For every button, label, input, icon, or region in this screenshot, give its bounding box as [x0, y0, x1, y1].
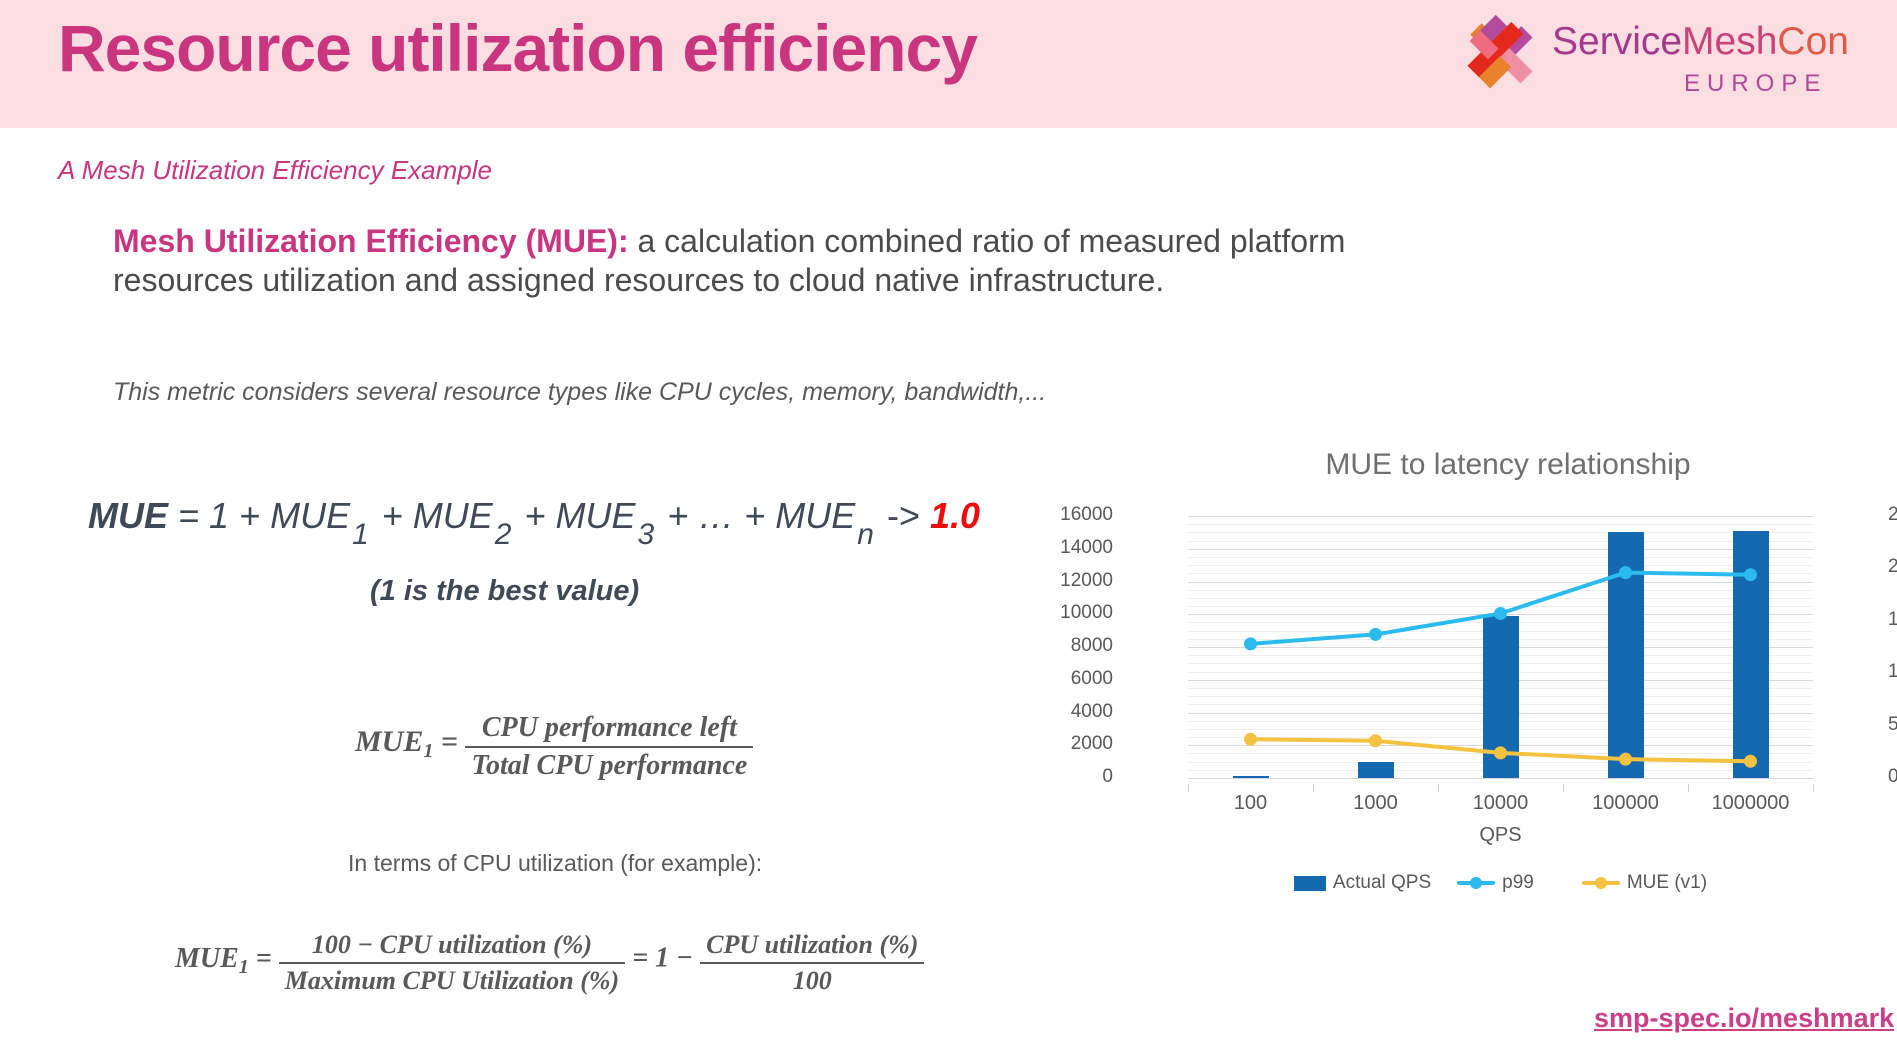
formula-sub-n: n — [855, 518, 877, 551]
x-axis-tick-label: 10000 — [1438, 792, 1563, 815]
legend-item[interactable]: Actual QPS — [1294, 872, 1431, 894]
y-axis-left-tick-label: 8000 — [993, 635, 1113, 657]
legend-label: Actual QPS — [1333, 872, 1431, 894]
metric-note: This metric considers several resource t… — [113, 378, 1313, 407]
chart-lines — [1188, 516, 1813, 778]
legend-item[interactable]: p99 — [1457, 872, 1534, 894]
mue1-cpu-utilization-equation: MUE1 = 100 − CPU utilization (%)Maximum … — [175, 930, 924, 996]
chart-x-axis-line — [1188, 778, 1813, 779]
x-axis-tick-label: 1000000 — [1688, 792, 1813, 815]
x-axis-tick-label: 1000 — [1313, 792, 1438, 815]
chart-data-point — [1494, 607, 1507, 620]
eq2-equals: = — [249, 943, 279, 974]
chart-data-point — [1619, 753, 1632, 766]
cpu-utilization-intro: In terms of CPU utilization (for example… — [348, 850, 762, 877]
chart-data-point — [1244, 637, 1257, 650]
chart-data-point — [1369, 734, 1382, 747]
y-axis-left-tick-label: 0 — [993, 766, 1113, 788]
chart-data-point — [1619, 566, 1632, 579]
eq1-fraction: CPU performance leftTotal CPU performanc… — [465, 712, 753, 782]
y-axis-left-tick-label: 2000 — [993, 733, 1113, 755]
eq2-denominator-1: Maximum CPU Utilization (%) — [279, 962, 625, 996]
legend-label: MUE (v1) — [1627, 872, 1707, 894]
y-axis-right-tick-label: 5.00 — [1888, 714, 1897, 736]
best-value-note: (1 is the best value) — [370, 575, 639, 608]
formula-eq: = 1 + MUE — [168, 495, 350, 536]
formula-target-value: 1.0 — [930, 495, 980, 536]
y-axis-left-tick-label: 12000 — [993, 570, 1113, 592]
eq2-lhs-text: MUE — [175, 943, 239, 974]
servicemeshcon-logo: ServiceMeshCon EUROPE — [1452, 8, 1882, 113]
logo-word-con: Con — [1777, 20, 1849, 63]
formula-term-3: + MUE — [514, 495, 635, 536]
lead-term: Mesh Utilization Efficiency (MUE): — [113, 223, 629, 259]
chart-data-point — [1494, 746, 1507, 759]
eq1-numerator: CPU performance left — [465, 712, 753, 746]
chart-legend: Actual QPSp99MUE (v1) — [1188, 872, 1813, 894]
chart-data-point — [1744, 568, 1757, 581]
eq2-lhs: MUE1 = — [175, 943, 279, 974]
mue1-cpu-performance-equation: MUE1 = CPU performance leftTotal CPU per… — [355, 712, 753, 782]
legend-label: p99 — [1502, 872, 1534, 894]
eq2-fraction-1: 100 − CPU utilization (%)Maximum CPU Uti… — [279, 930, 625, 996]
logo-wordmark: ServiceMeshCon — [1552, 20, 1849, 64]
logo-word-mesh: Mesh — [1682, 20, 1777, 63]
eq2-numerator-2: CPU utilization (%) — [700, 930, 924, 962]
x-axis-tick — [1688, 784, 1689, 792]
eq2-fraction-2: CPU utilization (%)100 — [700, 930, 924, 996]
legend-line-swatch-icon — [1457, 877, 1495, 889]
chart-data-point — [1369, 628, 1382, 641]
legend-line-swatch-icon — [1582, 877, 1620, 889]
formula-sub-2: 2 — [493, 518, 515, 551]
legend-item[interactable]: MUE (v1) — [1560, 872, 1707, 894]
formula-sub-3: 3 — [636, 518, 658, 551]
eq2-numerator-1: 100 − CPU utilization (%) — [279, 930, 625, 962]
meshmark-spec-link[interactable]: smp-spec.io/meshmark — [1594, 1003, 1894, 1034]
page-title: Resource utilization efficiency — [58, 10, 977, 86]
formula-term-2: + MUE — [372, 495, 493, 536]
eq1-lhs: MUE1 = — [355, 725, 465, 758]
lead-paragraph: Mesh Utilization Efficiency (MUE): a cal… — [113, 222, 1413, 300]
formula-arrow: -> — [877, 495, 920, 536]
eq1-denominator: Total CPU performance — [465, 746, 753, 782]
x-axis-tick-label: 100000 — [1563, 792, 1688, 815]
eq2-denominator-2: 100 — [700, 962, 924, 996]
y-axis-left-tick-label: 14000 — [993, 537, 1113, 559]
x-axis-tick — [1563, 784, 1564, 792]
section-subtitle: A Mesh Utilization Efficiency Example — [58, 155, 492, 186]
title-banner: Resource utilization efficiency ServiceM… — [0, 0, 1897, 128]
y-axis-left-tick-label: 16000 — [993, 504, 1113, 526]
x-axis-tick-label: 100 — [1188, 792, 1313, 815]
chart-title: MUE to latency relationship — [1128, 448, 1888, 482]
eq1-lhs-text: MUE — [355, 725, 423, 758]
eq1-equals: = — [433, 725, 465, 758]
eq2-mid: = 1 − — [625, 943, 700, 974]
y-axis-left-tick-label: 6000 — [993, 668, 1113, 690]
eq1-lhs-sub: 1 — [423, 740, 433, 762]
y-axis-left-tick-label: 4000 — [993, 701, 1113, 723]
formula-lhs: MUE — [88, 495, 168, 536]
x-axis-tick — [1188, 784, 1189, 792]
mue-latency-chart: MUE to latency relationship 020004000600… — [1128, 448, 1888, 948]
mue-sum-formula: MUE = 1 + MUE1 + MUE2 + MUE3 + … + MUEn-… — [88, 495, 980, 552]
chart-data-point — [1744, 755, 1757, 768]
x-axis-tick — [1438, 784, 1439, 792]
y-axis-left-tick-label: 10000 — [993, 602, 1113, 624]
x-axis-tick — [1813, 784, 1814, 792]
y-axis-right-tick-label: 20.00 — [1888, 556, 1897, 578]
logo-word-service: Service — [1552, 20, 1682, 63]
y-axis-right-tick-label: 0.00 — [1888, 766, 1897, 788]
y-axis-right-tick-label: 15.00 — [1888, 609, 1897, 631]
eq2-lhs-sub: 1 — [239, 956, 249, 978]
logo-region-label: EUROPE — [1684, 70, 1827, 98]
chart-plot-area: 0200040006000800010000120001400016000 0.… — [1188, 516, 1813, 778]
y-axis-right-tick-label: 25.00 — [1888, 504, 1897, 526]
formula-term-n: + … + MUE — [657, 495, 855, 536]
legend-bar-swatch-icon — [1294, 876, 1326, 891]
servicemeshcon-diamond-logo-icon — [1452, 12, 1548, 94]
chart-data-point — [1244, 733, 1257, 746]
x-axis-tick — [1313, 784, 1314, 792]
formula-sub-1: 1 — [350, 518, 372, 551]
chart-x-axis-title: QPS — [1188, 824, 1813, 847]
y-axis-right-tick-label: 10.00 — [1888, 661, 1897, 683]
